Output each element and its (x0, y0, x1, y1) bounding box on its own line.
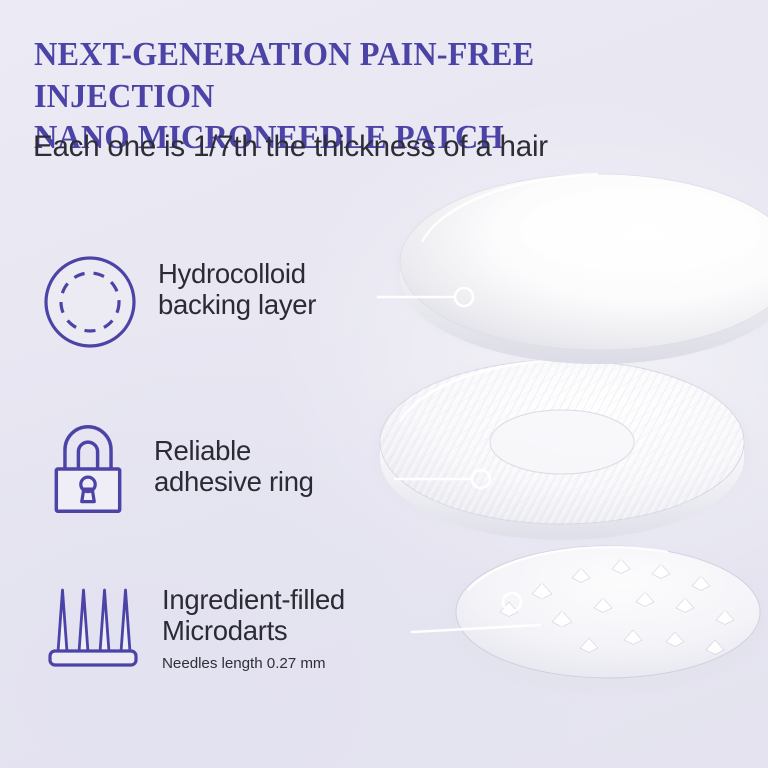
feature-label: Ingredient-filled Microdarts (162, 584, 345, 647)
dashed-circle-icon (40, 252, 140, 352)
feature-text-hydrocolloid: Hydrocolloid backing layer (158, 252, 316, 321)
feature-text-adhesive: Reliable adhesive ring (154, 421, 314, 498)
feature-subtext: Needles length 0.27 mm (162, 654, 345, 674)
feature-text-microdarts: Ingredient-filled Microdarts Needles len… (162, 580, 345, 673)
feature-label: Hydrocolloid backing layer (158, 258, 316, 321)
padlock-icon (40, 421, 136, 517)
feature-item-adhesive: Reliable adhesive ring (40, 421, 314, 517)
feature-label: Reliable adhesive ring (154, 435, 314, 498)
infographic-page: NEXT-GENERATION PAIN-FREE INJECTION NANO… (0, 0, 768, 768)
feature-item-microdarts: Ingredient-filled Microdarts Needles len… (40, 580, 345, 673)
microneedles-icon (40, 580, 144, 672)
feature-item-hydrocolloid: Hydrocolloid backing layer (40, 252, 316, 352)
feature-list: Hydrocolloid backing layer Reliable adhe… (0, 0, 400, 768)
